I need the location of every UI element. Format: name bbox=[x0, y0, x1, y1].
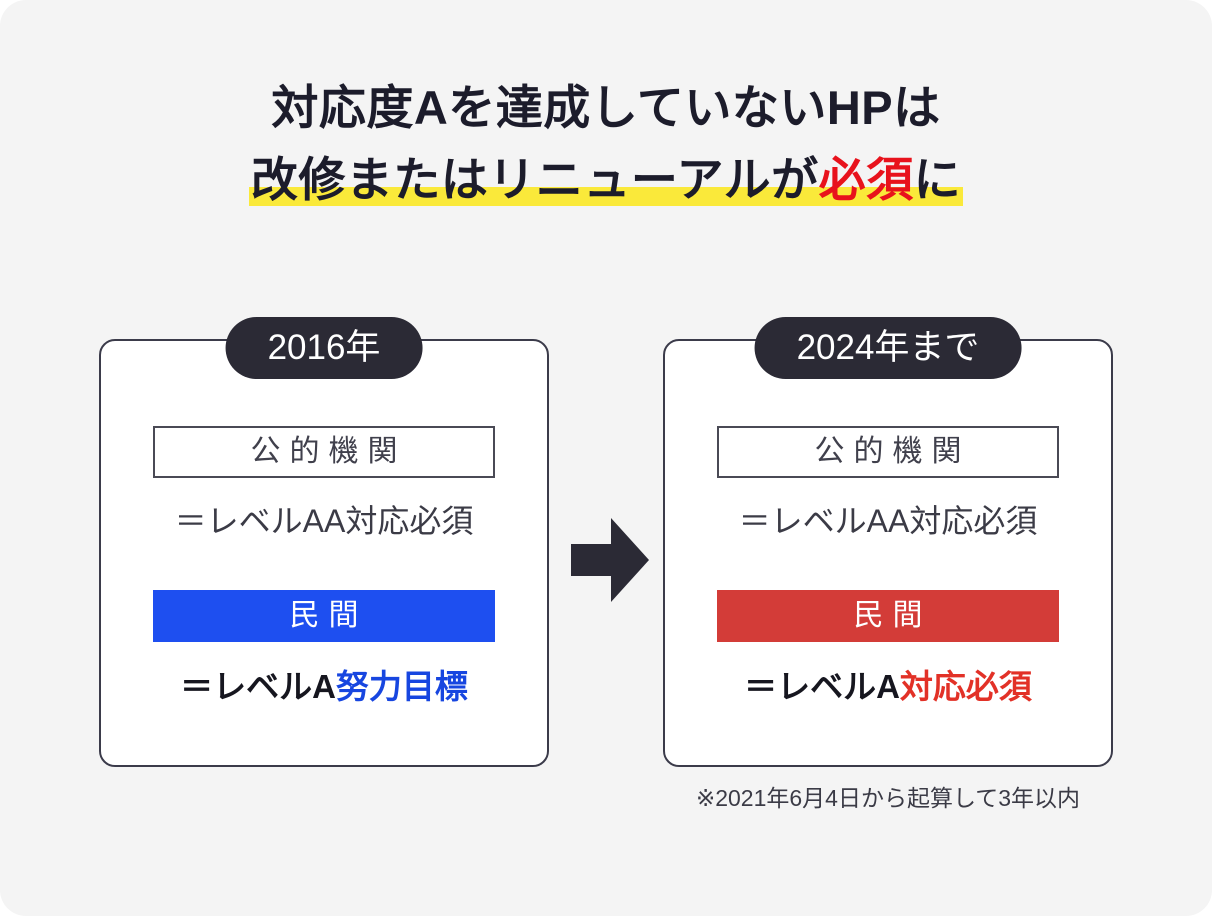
public-sector-requirement-2016: ＝レベルAA対応必須 bbox=[153, 496, 495, 542]
private-requirement-accent-2016: 努力目標 bbox=[336, 668, 468, 705]
infographic-canvas: 対応度Aを達成していないHPは 改修またはリニューアルが必須に 2016年 公的… bbox=[0, 0, 1212, 916]
title-line-2: 改修またはリニューアルが必須に bbox=[0, 146, 1212, 214]
card-2016: 2016年 公的機関 ＝レベルAA対応必須 民間 ＝レベルA努力目標 bbox=[99, 339, 549, 767]
private-requirement-accent-2024: 対応必須 bbox=[900, 668, 1032, 705]
public-sector-requirement-2024: ＝レベルAA対応必須 bbox=[717, 496, 1059, 542]
title-highlight: 改修またはリニューアルが必須に bbox=[249, 153, 963, 206]
card-badge-2016: 2016年 bbox=[226, 317, 423, 379]
arrow-right-icon bbox=[571, 518, 649, 602]
private-sector-requirement-2024: ＝レベルA対応必須 bbox=[717, 660, 1059, 708]
card-content-2024: 公的機関 ＝レベルAA対応必須 民間 ＝レベルA対応必須 bbox=[717, 426, 1059, 708]
page-title: 対応度Aを達成していないHPは 改修またはリニューアルが必須に bbox=[0, 74, 1212, 214]
private-sector-bar-2016: 民間 bbox=[153, 590, 495, 642]
private-sector-bar-2024: 民間 bbox=[717, 590, 1059, 642]
title-line-1: 対応度Aを達成していないHPは bbox=[0, 74, 1212, 142]
private-requirement-prefix-2024: ＝レベルA bbox=[744, 668, 900, 705]
card-2024: 2024年まで 公的機関 ＝レベルAA対応必須 民間 ＝レベルA対応必須 bbox=[663, 339, 1113, 767]
private-sector-requirement-2016: ＝レベルA努力目標 bbox=[153, 660, 495, 708]
title-line-2-suffix: に bbox=[914, 153, 962, 206]
footnote-note: ※2021年6月4日から起算して3年以内 bbox=[663, 779, 1113, 813]
public-sector-box-2016: 公的機関 bbox=[153, 426, 495, 478]
public-sector-box-2024: 公的機関 bbox=[717, 426, 1059, 478]
title-line-2-prefix: 改修またはリニューアルが bbox=[251, 153, 819, 206]
card-content-2016: 公的機関 ＝レベルAA対応必須 民間 ＝レベルA努力目標 bbox=[153, 426, 495, 708]
private-requirement-prefix-2016: ＝レベルA bbox=[180, 668, 336, 705]
card-badge-2024: 2024年まで bbox=[755, 317, 1022, 379]
title-line-2-accent: 必須 bbox=[819, 153, 914, 206]
